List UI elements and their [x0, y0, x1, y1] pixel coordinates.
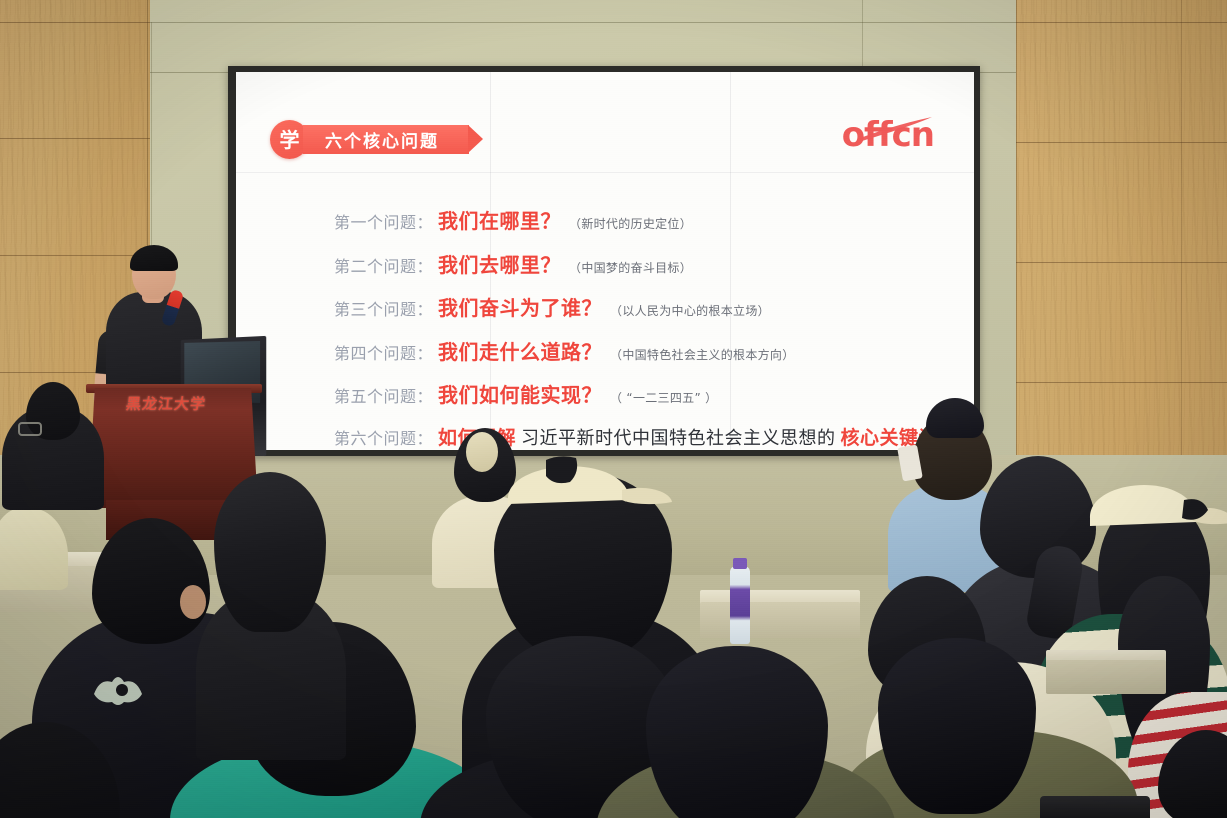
audience-group [0, 400, 1227, 818]
audience-hair-long [214, 472, 326, 632]
panel-seam-3 [236, 172, 974, 173]
wall-seam-mid-left [150, 72, 228, 73]
list-item: 第二个问题： 我们去哪里？ （中国梦的奋斗目标） [334, 249, 968, 278]
list-item: 第四个问题： 我们走什么道路？ （中国特色社会主义的根本方向） [334, 336, 968, 365]
question-index: 第四个问题： [334, 340, 433, 364]
baseball-cap-right [1080, 466, 1200, 520]
projection-screen: 学 六个核心问题 offcn 第一个问题： 我们在哪里？ （新时代的历史定位） … [236, 72, 974, 450]
question-text: 我们走什么道路？ [438, 336, 602, 365]
question-text: 我们去哪里？ [438, 249, 561, 278]
baseball-cap [502, 448, 630, 504]
hair-clip [466, 432, 498, 472]
wall-seam-mid-right [980, 72, 1016, 73]
slide-title-banner: 六个核心问题 [303, 125, 469, 154]
audience-hair-long [646, 646, 828, 818]
list-item: 第三个问题： 我们奋斗为了谁？ （以人民为中心的根本立场） [334, 292, 968, 321]
question-text: 我们奋斗为了谁？ [438, 292, 602, 321]
water-bottle [730, 566, 750, 644]
backpack [0, 508, 68, 590]
beanie-cap [926, 398, 984, 438]
question-note: （以人民为中心的根本立场） [610, 302, 770, 319]
tshirt-graphic [86, 668, 158, 708]
question-index: 第二个问题： [334, 253, 433, 277]
chair-back [1040, 796, 1150, 818]
audience-head [92, 518, 210, 644]
audience-ear [180, 585, 206, 619]
slide-header: 学 六个核心问题 [270, 120, 469, 159]
logo-swoosh-icon [852, 116, 938, 142]
question-text: 我们在哪里？ [438, 205, 561, 234]
lecture-hall-photo: 学 六个核心问题 offcn 第一个问题： 我们在哪里？ （新时代的历史定位） … [0, 0, 1227, 818]
audience-hair-long [878, 638, 1036, 814]
wall-seam-upper [150, 22, 1016, 23]
desk [1046, 660, 1166, 694]
question-note: （中国梦的奋斗目标） [569, 259, 692, 276]
question-index: 第一个问题： [334, 209, 433, 233]
question-index: 第三个问题： [334, 296, 433, 320]
bottle-cap [733, 558, 747, 569]
question-note: （新时代的历史定位） [569, 215, 692, 232]
list-item: 第一个问题： 我们在哪里？ （新时代的历史定位） [334, 205, 968, 234]
question-note: （中国特色社会主义的根本方向） [610, 346, 795, 363]
desk [700, 602, 860, 638]
eyeglasses [18, 422, 42, 436]
wall-seam-vertical-2 [862, 0, 863, 66]
